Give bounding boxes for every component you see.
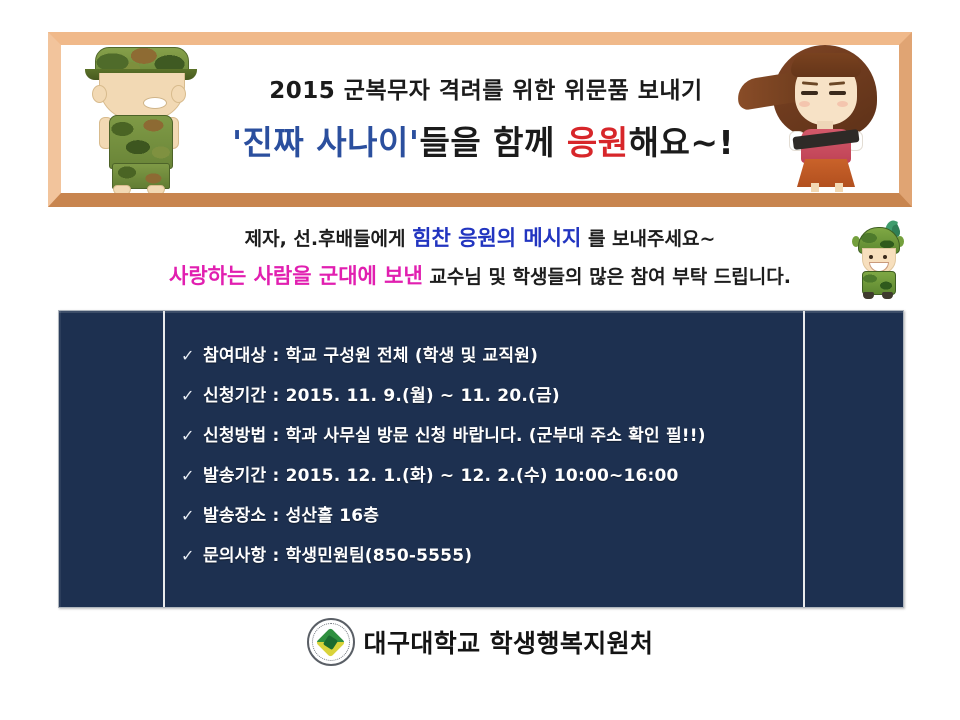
- woman-left-leg-icon: [811, 183, 819, 192]
- soldier-character-illustration: [79, 45, 199, 193]
- info-item-list: ✓ 참여대상 : 학교 구성원 전체 (학생 및 교직원) ✓ 신청기간 : 2…: [181, 341, 793, 581]
- info-box: ✓ 참여대상 : 학교 구성원 전체 (학생 및 교직원) ✓ 신청기간 : 2…: [58, 310, 904, 608]
- woman-skirt-icon: [797, 159, 855, 187]
- subtitle-line-2: 사랑하는 사람을 군대에 보낸 교수님 및 학생들의 많은 참여 부탁 드립니다…: [0, 266, 960, 287]
- banner-frame: 2015 군복무자 격려를 위한 위문품 보내기 '진짜 사나이'들을 함께 응…: [48, 32, 912, 207]
- check-icon: ✓: [181, 508, 203, 524]
- info-item-text: 발송기간 : 2015. 12. 1.(화) ~ 12. 2.(수) 10:00…: [203, 461, 679, 486]
- mascot-left-boot-icon: [863, 292, 874, 299]
- small-soldier-mascot-icon: [848, 220, 908, 300]
- seal-diamond-emblem-icon: [316, 627, 346, 657]
- info-item-text: 문의사항 : 학생민원팀(850-5555): [203, 541, 472, 566]
- soldier-left-foot-icon: [113, 185, 131, 193]
- mascot-right-eye-icon: [883, 255, 887, 259]
- woman-left-cheek-icon: [799, 101, 810, 107]
- info-item-text: 신청방법 : 학과 사무실 방문 신청 바랍니다. (군부대 주소 확인 필!!…: [203, 421, 706, 446]
- banner-inner: 2015 군복무자 격려를 위한 위문품 보내기 '진짜 사나이'들을 함께 응…: [61, 45, 899, 193]
- organization-name: 대구대학교 학생행복지원처: [364, 624, 654, 660]
- subtitle-line1-prefix: 제자, 선.후배들에게: [245, 228, 413, 250]
- info-item-application-period: ✓ 신청기간 : 2015. 11. 9.(월) ~ 11. 20.(금): [181, 381, 793, 406]
- check-icon: ✓: [181, 468, 203, 484]
- subtitle-line1-highlight: 힘찬 응원의 메시지: [412, 226, 581, 250]
- info-item-text: 신청기간 : 2015. 11. 9.(월) ~ 11. 20.(금): [203, 381, 560, 406]
- info-item-text: 참여대상 : 학교 구성원 전체 (학생 및 교직원): [203, 341, 538, 366]
- mascot-right-boot-icon: [882, 292, 893, 299]
- info-item-application-method: ✓ 신청방법 : 학과 사무실 방문 신청 바랍니다. (군부대 주소 확인 필…: [181, 421, 793, 446]
- soldier-left-ear-icon: [92, 85, 107, 103]
- info-box-left-divider: [163, 311, 165, 607]
- check-icon: ✓: [181, 348, 203, 364]
- woman-character-illustration: [759, 45, 887, 193]
- subtitle-line2-highlight: 사랑하는 사람을 군대에 보낸: [169, 264, 423, 288]
- banner-headline-tail: 해요~!: [629, 123, 734, 162]
- banner-headline-mid: 들을 함께: [419, 123, 566, 162]
- info-item-shipping-period: ✓ 발송기간 : 2015. 12. 1.(화) ~ 12. 2.(수) 10:…: [181, 461, 793, 486]
- info-item-text: 발송장소 : 성산홀 16층: [203, 501, 379, 526]
- soldier-right-ear-icon: [171, 85, 186, 103]
- banner-headline-jinjja-sanai: '진짜 사나이': [232, 123, 420, 162]
- info-box-right-divider: [803, 311, 805, 607]
- info-item-participation-target: ✓ 참여대상 : 학교 구성원 전체 (학생 및 교직원): [181, 341, 793, 366]
- woman-right-cheek-icon: [837, 101, 848, 107]
- subtitle-line-1: 제자, 선.후배들에게 힘찬 응원의 메시지 를 보내주세요~: [0, 228, 960, 249]
- check-icon: ✓: [181, 428, 203, 444]
- university-seal-logo-icon: [307, 618, 355, 666]
- soldier-right-foot-icon: [147, 185, 165, 193]
- info-item-inquiry: ✓ 문의사항 : 학생민원팀(850-5555): [181, 541, 793, 566]
- woman-right-leg-icon: [835, 183, 843, 192]
- subtitle-group: 제자, 선.후배들에게 힘찬 응원의 메시지 를 보내주세요~ 사랑하는 사람을…: [0, 228, 960, 287]
- banner-headline-eungwon: 응원: [567, 123, 629, 162]
- soldier-camo-uniform-icon: [109, 115, 173, 169]
- check-icon: ✓: [181, 548, 203, 564]
- check-icon: ✓: [181, 388, 203, 404]
- footer: 대구대학교 학생행복지원처: [0, 618, 960, 666]
- woman-left-eye-icon: [801, 91, 818, 95]
- info-item-shipping-location: ✓ 발송장소 : 성산홀 16층: [181, 501, 793, 526]
- woman-fringe-icon: [791, 53, 861, 77]
- subtitle-line2-suffix: 교수님 및 학생들의 많은 참여 부탁 드립니다.: [423, 266, 791, 288]
- soldier-mouth-icon: [143, 97, 167, 109]
- woman-right-eye-icon: [829, 91, 846, 95]
- mascot-left-eye-icon: [869, 255, 873, 259]
- subtitle-line1-suffix: 를 보내주세요~: [581, 228, 715, 250]
